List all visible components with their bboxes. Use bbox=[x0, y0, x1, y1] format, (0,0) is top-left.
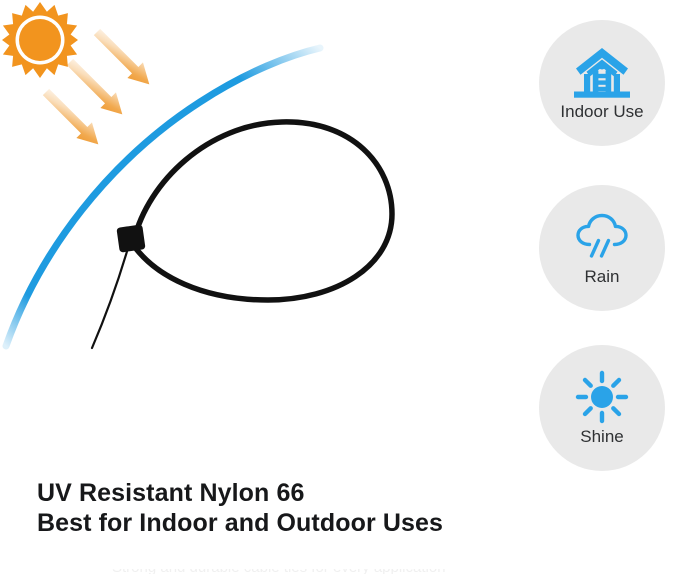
headline-line-2: Best for Indoor and Outdoor Uses bbox=[37, 508, 497, 538]
headline-block: UV Resistant Nylon 66 Best for Indoor an… bbox=[37, 478, 497, 538]
house-icon bbox=[571, 44, 633, 100]
headline-line-1: UV Resistant Nylon 66 bbox=[37, 478, 497, 508]
badge-indoor-use[interactable]: Indoor Use bbox=[539, 20, 665, 146]
sun-burst-icon bbox=[2, 2, 78, 78]
badge-rain[interactable]: Rain bbox=[539, 185, 665, 311]
feature-badge-list: Indoor Use Rain bbox=[539, 20, 666, 492]
badge-label-shine: Shine bbox=[580, 427, 623, 447]
clipped-footer-label: Strong and durable cable ties for every … bbox=[112, 569, 532, 574]
sun-icon bbox=[571, 369, 633, 425]
cable-tie-icon bbox=[92, 122, 392, 348]
infographic-page: UV Resistant Nylon 66 Best for Indoor an… bbox=[0, 0, 679, 574]
badge-label-indoor-use: Indoor Use bbox=[560, 102, 643, 122]
rain-cloud-icon bbox=[571, 209, 633, 265]
badge-shine[interactable]: Shine bbox=[539, 345, 665, 471]
badge-label-rain: Rain bbox=[585, 267, 620, 287]
clipped-footer-text: Strong and durable cable ties for every … bbox=[112, 569, 532, 574]
product-illustration bbox=[0, 0, 510, 470]
